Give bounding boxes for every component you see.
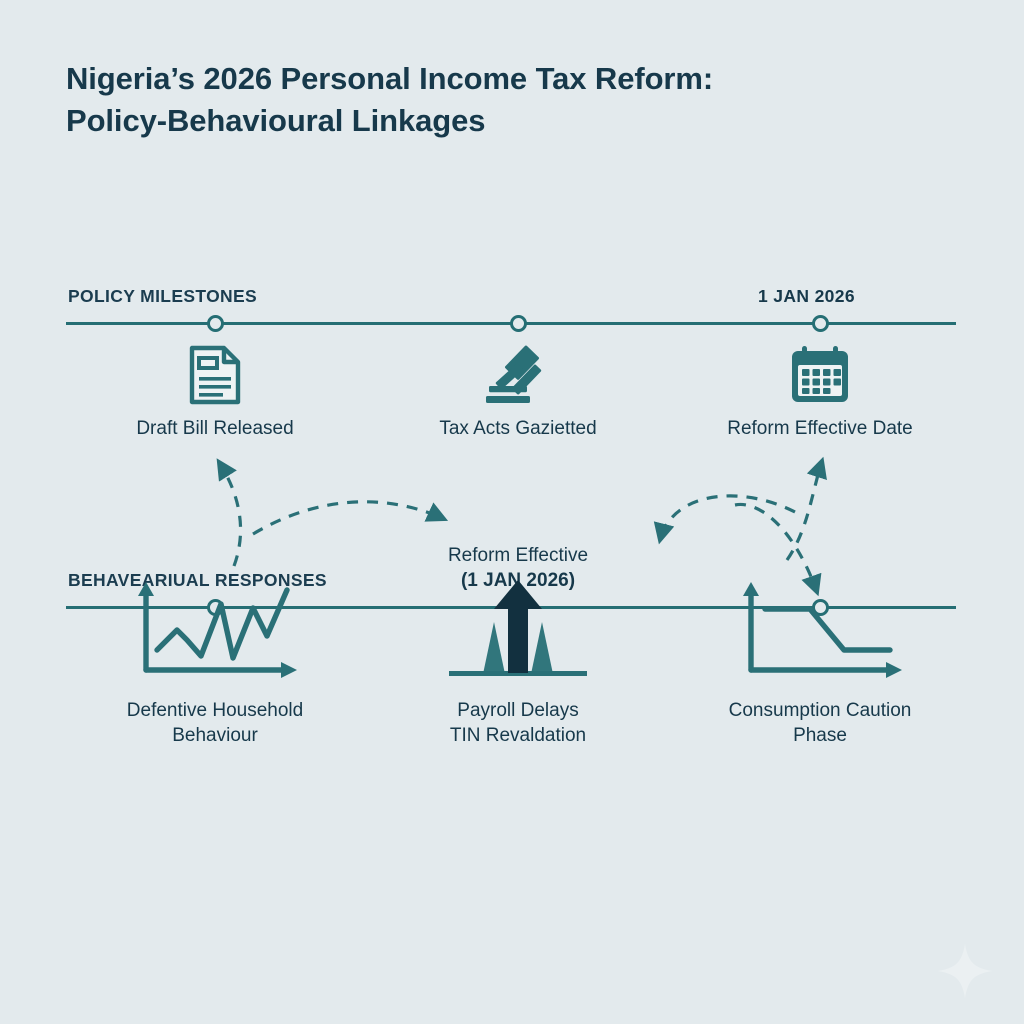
twin-peaks-up-arrow-icon bbox=[398, 622, 638, 684]
connector-arrow-layer bbox=[0, 0, 1024, 1024]
declining-step-chart-icon bbox=[700, 622, 940, 684]
behaviour-stop-caption: Defentive Household Behaviour bbox=[95, 698, 335, 748]
connector-left-right-arrow bbox=[253, 502, 444, 534]
diagram-canvas: Nigeria’s 2026 Personal Income Tax Refor… bbox=[0, 0, 1024, 1024]
behaviour-stop-caption: Consumption Caution Phase bbox=[700, 698, 940, 748]
behaviour-stop-consumption-caution[interactable]: Consumption Caution Phase bbox=[700, 622, 940, 748]
connector-left-up-arrow bbox=[219, 462, 241, 566]
volatile-line-chart-icon bbox=[95, 622, 335, 684]
behaviour-stop-payroll-delays[interactable]: Payroll Delays TIN Revaldation bbox=[398, 622, 638, 748]
reform-effective-callout-title: Reform Effective bbox=[398, 543, 638, 568]
connector-right-left-arrow bbox=[660, 496, 795, 540]
behaviour-stop-defensive-household[interactable]: Defentive Household Behaviour bbox=[95, 622, 335, 748]
sparkle-icon bbox=[936, 942, 994, 1000]
behaviour-stop-caption: Payroll Delays TIN Revaldation bbox=[398, 698, 638, 748]
